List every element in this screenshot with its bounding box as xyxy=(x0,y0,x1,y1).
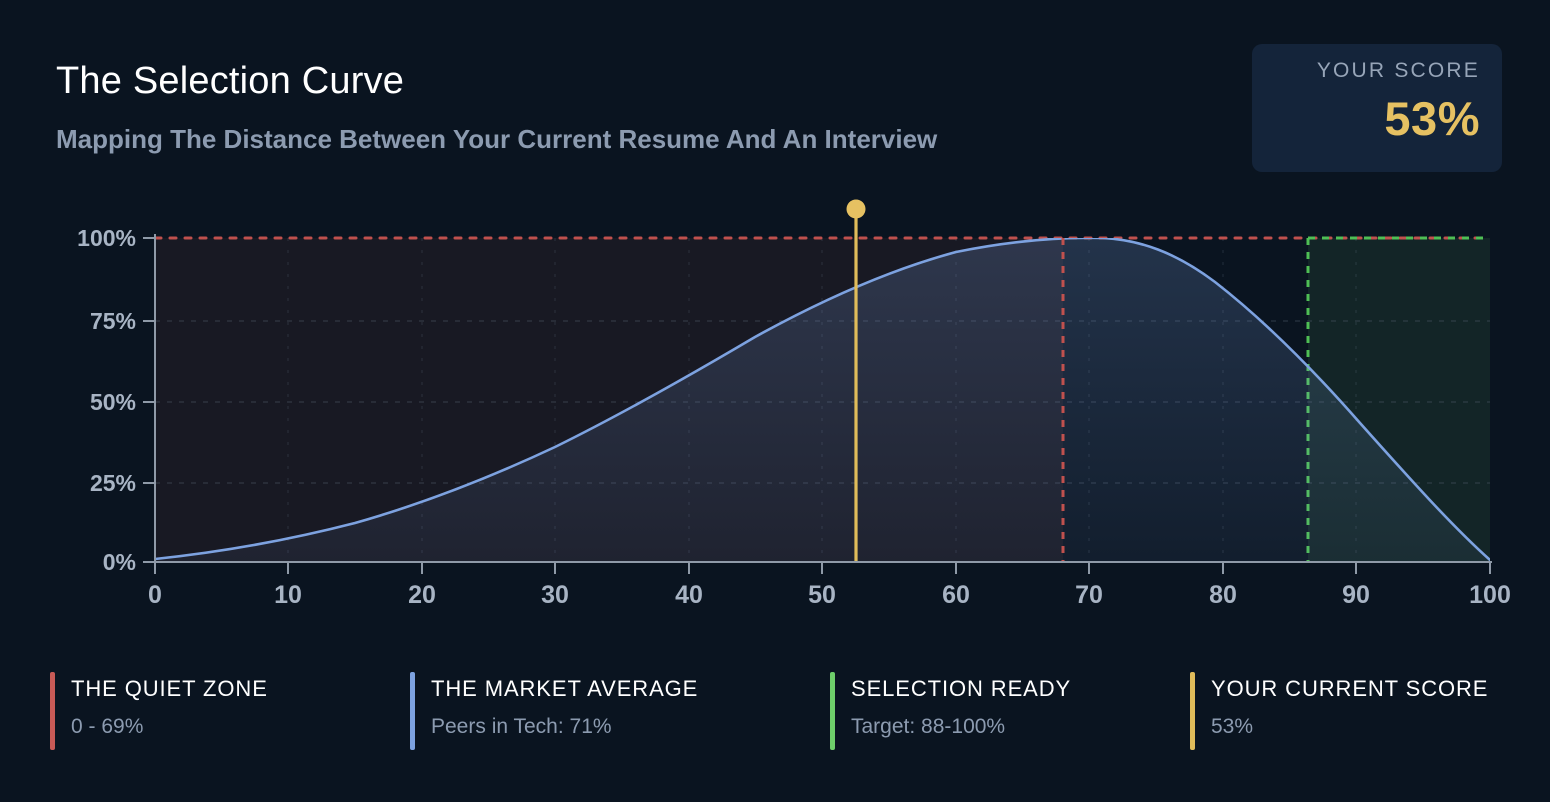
x-tick-label: 20 xyxy=(408,581,436,609)
legend-color-swatch xyxy=(830,672,835,750)
x-tick-label: 80 xyxy=(1209,581,1237,609)
legend-item-quiet-zone[interactable]: THE QUIET ZONE 0 - 69% xyxy=(50,672,410,768)
y-tick-label: 50% xyxy=(90,389,136,415)
page-title: The Selection Curve xyxy=(56,60,404,103)
x-tick-label: 30 xyxy=(541,581,569,609)
x-tick-label: 70 xyxy=(1075,581,1103,609)
selection-curve-chart: 100% 75% 50% 25% 0% 0 10 20 30 40 50 60 … xyxy=(0,190,1550,630)
y-axis-labels: 100% 75% 50% 25% 0% xyxy=(77,225,136,575)
y-axis-ticks xyxy=(143,238,155,562)
page-subtitle: Mapping The Distance Between Your Curren… xyxy=(56,124,937,155)
legend-item-subtitle: Target: 88-100% xyxy=(851,714,1071,739)
legend-item-title: SELECTION READY xyxy=(851,676,1071,702)
y-tick-label: 0% xyxy=(103,549,136,575)
x-axis-ticks xyxy=(155,562,1490,574)
y-tick-label: 75% xyxy=(90,308,136,334)
chart-legend: THE QUIET ZONE 0 - 69% THE MARKET AVERAG… xyxy=(50,672,1530,768)
score-badge-label: YOUR SCORE xyxy=(1252,60,1480,81)
score-badge-value: 53% xyxy=(1252,95,1480,142)
y-tick-label: 100% xyxy=(77,225,136,251)
legend-color-swatch xyxy=(50,672,55,750)
x-tick-label: 10 xyxy=(274,581,302,609)
x-tick-label: 90 xyxy=(1342,581,1370,609)
chart-svg: 100% 75% 50% 25% 0% 0 10 20 30 40 50 60 … xyxy=(0,190,1550,630)
legend-color-swatch xyxy=(1190,672,1195,750)
x-tick-label: 0 xyxy=(148,581,162,609)
legend-item-title: YOUR CURRENT SCORE xyxy=(1211,676,1488,702)
x-tick-label: 100 xyxy=(1469,581,1511,609)
legend-item-title: THE QUIET ZONE xyxy=(71,676,268,702)
header: The Selection Curve Mapping The Distance… xyxy=(0,0,1550,190)
y-tick-label: 25% xyxy=(90,470,136,496)
legend-item-title: THE MARKET AVERAGE xyxy=(431,676,698,702)
x-tick-label: 50 xyxy=(808,581,836,609)
legend-item-market-average[interactable]: THE MARKET AVERAGE Peers in Tech: 71% xyxy=(410,672,830,768)
x-tick-label: 60 xyxy=(942,581,970,609)
x-tick-label: 40 xyxy=(675,581,703,609)
legend-item-subtitle: 0 - 69% xyxy=(71,714,268,739)
your-score-marker-dot[interactable] xyxy=(847,200,866,219)
legend-item-your-current-score[interactable]: YOUR CURRENT SCORE 53% xyxy=(1190,672,1530,768)
legend-item-subtitle: 53% xyxy=(1211,714,1488,739)
legend-item-selection-ready[interactable]: SELECTION READY Target: 88-100% xyxy=(830,672,1190,768)
score-badge: YOUR SCORE 53% xyxy=(1252,44,1502,172)
legend-item-subtitle: Peers in Tech: 71% xyxy=(431,714,698,739)
x-axis-labels: 0 10 20 30 40 50 60 70 80 90 100 xyxy=(148,581,1511,609)
legend-color-swatch xyxy=(410,672,415,750)
